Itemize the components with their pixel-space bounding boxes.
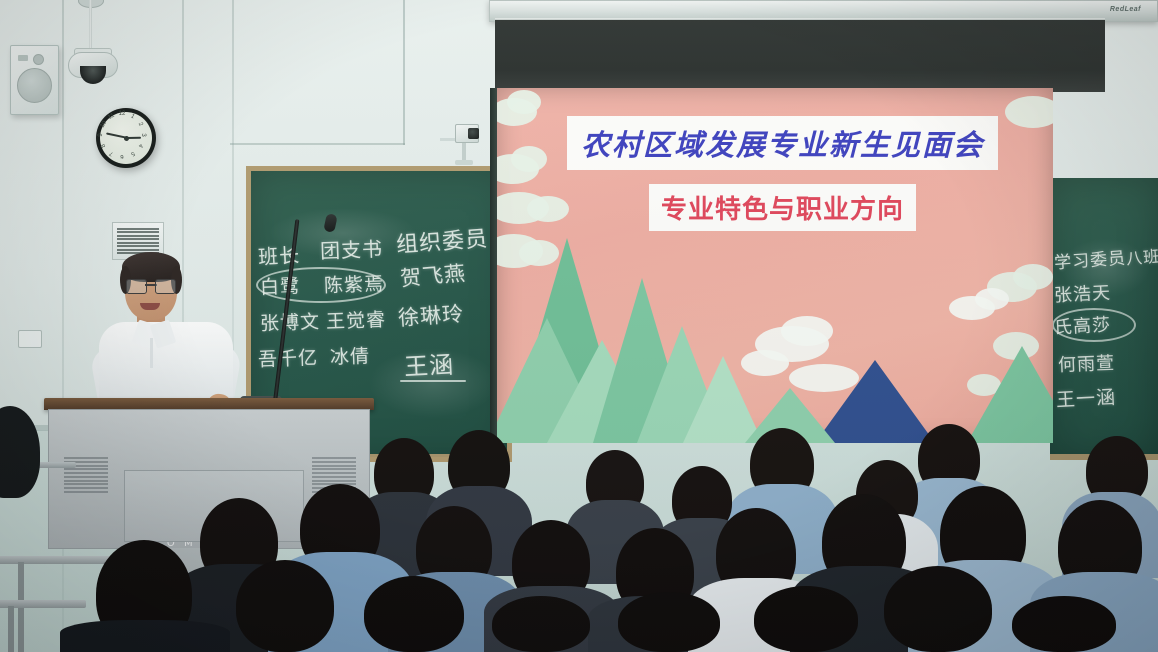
blackboard-right-highlight-circle [1052,308,1136,342]
presenter [95,250,235,415]
speaker-port [18,55,28,61]
slide-main-title: 农村区域发展专业新生见面会 [567,116,998,170]
classroom-photo: 12 1 2 3 4 5 6 7 8 9 10 11 班长 团支书 组织委员 白… [0,0,1158,652]
wall-seam [62,0,64,652]
projector-brand-label: RedLeaf [1110,6,1141,13]
audience-head [884,566,992,652]
blackboard-right-header: 学习委员 [1053,244,1127,274]
box-security-camera [455,124,479,143]
clock-numeral: 9 [98,130,104,140]
box-camera-lens-icon [468,128,479,139]
cloud-motif [527,196,569,222]
cloud-motif [511,146,547,172]
cloud-motif [789,364,859,392]
desk-leg [8,606,14,652]
camera-drop-pole [89,0,92,52]
audience-head [236,560,334,652]
clock-center-pin [124,136,129,141]
cloud-motif [975,288,1009,310]
blackboard-right-name: 何雨萱 [1058,349,1116,377]
clock-numeral: 6 [117,153,127,159]
blackboard-right: 学习委员 八班 张浩天 氏高莎 何雨萱 王一涵 [1050,178,1158,460]
clock-numeral: 3 [140,130,146,140]
screen-dark-area [495,20,1105,92]
cloud-motif [741,350,789,376]
speaker-tweeter [33,54,44,65]
wall-frame-horizontal [230,143,405,145]
wall-clock: 12 1 2 3 4 5 6 7 8 9 10 11 [96,108,156,168]
audience-head [1012,596,1116,652]
slide-subtitle: 专业特色与职业方向 [649,184,916,231]
presenter-placket [150,338,153,368]
speaker-woofer [17,68,52,103]
audience-head [754,586,858,652]
blackboard-right-extra: 八班 [1125,243,1158,270]
presentation-slide: 农村区域发展专业新生见面会 专业特色与职业方向 [497,88,1053,443]
cloud-motif [1005,96,1053,128]
cloud-motif [519,240,559,266]
audience-body [60,620,230,652]
audience-head [618,592,720,652]
podium-speaker-grille [62,455,110,495]
clock-numeral: 12 [117,111,127,117]
wall-frame-vertical [403,0,405,145]
cloud-motif [507,90,541,114]
cloud-motif [781,316,833,346]
wall-speaker [10,45,59,115]
cloud-motif [993,332,1039,360]
cloud-motif [1013,264,1053,290]
blackboard-right-name: 王一涵 [1055,382,1116,412]
glasses-icon [126,279,176,292]
wall-outlet [18,330,42,348]
box-camera-base [455,160,473,165]
audience-head [492,596,590,652]
blackboard-right-name: 张浩天 [1053,279,1111,308]
audience-head [364,576,464,652]
